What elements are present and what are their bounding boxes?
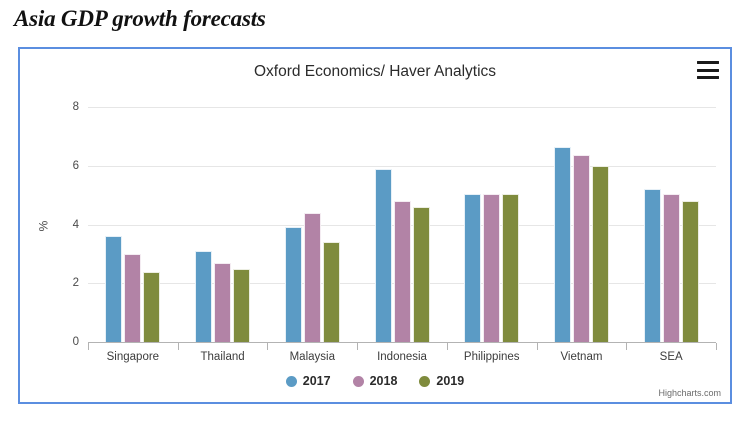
legend-marker-icon	[286, 376, 297, 387]
x-axis-tick-label: Indonesia	[377, 351, 427, 363]
bar-indonesia-2017[interactable]	[375, 169, 392, 342]
y-axis-tick-label: 2	[73, 277, 79, 289]
chart-container: Oxford Economics/ Haver Analytics % 0246…	[18, 47, 732, 404]
bar-singapore-2019[interactable]	[143, 272, 160, 343]
legend-label: 2017	[303, 374, 331, 388]
chart-legend: 201720182019	[20, 374, 730, 388]
x-axis-tick-label: Thailand	[201, 351, 245, 363]
x-axis-tick	[716, 343, 717, 350]
x-axis-tick-label: Vietnam	[560, 351, 602, 363]
x-axis-tick-label: Philippines	[464, 351, 520, 363]
y-axis-tick-label: 4	[73, 219, 79, 231]
legend-label: 2019	[436, 374, 464, 388]
bar-indonesia-2018[interactable]	[394, 201, 411, 342]
x-axis-category: SEA	[626, 343, 716, 373]
legend-label: 2018	[370, 374, 398, 388]
x-axis-tick	[447, 343, 448, 350]
y-axis-tick-label: 6	[73, 160, 79, 172]
y-axis-title: %	[36, 220, 50, 231]
bar-vietnam-2019[interactable]	[592, 166, 609, 342]
page-title: Asia GDP growth forecasts	[14, 6, 266, 32]
bar-thailand-2019[interactable]	[233, 269, 250, 342]
bars-layer	[88, 107, 716, 342]
bar-philippines-2017[interactable]	[464, 194, 481, 342]
x-axis-tick	[537, 343, 538, 350]
bar-malaysia-2017[interactable]	[285, 227, 302, 342]
bar-group-malaysia	[267, 107, 357, 342]
x-axis-category: Vietnam	[537, 343, 627, 373]
x-axis-tick	[88, 343, 89, 350]
bar-group-philippines	[447, 107, 537, 342]
x-axis-tick-label: SEA	[660, 351, 683, 363]
bar-thailand-2018[interactable]	[214, 263, 231, 342]
legend-marker-icon	[353, 376, 364, 387]
legend-marker-icon	[419, 376, 430, 387]
x-axis-category: Thailand	[178, 343, 268, 373]
bar-indonesia-2019[interactable]	[413, 207, 430, 342]
bar-philippines-2019[interactable]	[502, 194, 519, 342]
bar-group-vietnam	[537, 107, 627, 342]
bar-singapore-2018[interactable]	[124, 254, 141, 342]
x-axis-tick-label: Singapore	[107, 351, 159, 363]
legend-item-2019[interactable]: 2019	[419, 374, 464, 388]
bar-philippines-2018[interactable]	[483, 194, 500, 342]
x-axis-tick	[267, 343, 268, 350]
hamburger-menu-icon[interactable]	[697, 61, 719, 79]
x-axis-tick-label: Malaysia	[290, 351, 335, 363]
legend-item-2017[interactable]: 2017	[286, 374, 331, 388]
bar-group-indonesia	[357, 107, 447, 342]
x-axis-category: Singapore	[88, 343, 178, 373]
x-axis-tick	[357, 343, 358, 350]
bar-group-sea	[626, 107, 716, 342]
y-axis-tick-label: 0	[73, 336, 79, 348]
x-axis-category: Malaysia	[267, 343, 357, 373]
bar-sea-2017[interactable]	[644, 189, 661, 342]
y-axis-tick-label: 8	[73, 101, 79, 113]
legend-item-2018[interactable]: 2018	[353, 374, 398, 388]
bar-singapore-2017[interactable]	[105, 236, 122, 342]
bar-thailand-2017[interactable]	[195, 251, 212, 342]
chart-title: Oxford Economics/ Haver Analytics	[20, 63, 730, 81]
bar-vietnam-2017[interactable]	[554, 147, 571, 342]
bar-group-singapore	[88, 107, 178, 342]
x-axis-category: Philippines	[447, 343, 537, 373]
hamburger-line	[697, 69, 719, 72]
bar-malaysia-2019[interactable]	[323, 242, 340, 342]
x-axis-tick	[178, 343, 179, 350]
bar-malaysia-2018[interactable]	[304, 213, 321, 342]
bar-sea-2019[interactable]	[682, 201, 699, 342]
chart-credits: Highcharts.com	[658, 388, 721, 398]
bar-vietnam-2018[interactable]	[573, 155, 590, 342]
hamburger-line	[697, 76, 719, 79]
x-axis-category: Indonesia	[357, 343, 447, 373]
x-axis-categories: SingaporeThailandMalaysiaIndonesiaPhilip…	[88, 343, 716, 373]
bar-group-thailand	[178, 107, 268, 342]
hamburger-line	[697, 61, 719, 64]
x-axis-tick	[626, 343, 627, 350]
bar-sea-2018[interactable]	[663, 194, 680, 342]
